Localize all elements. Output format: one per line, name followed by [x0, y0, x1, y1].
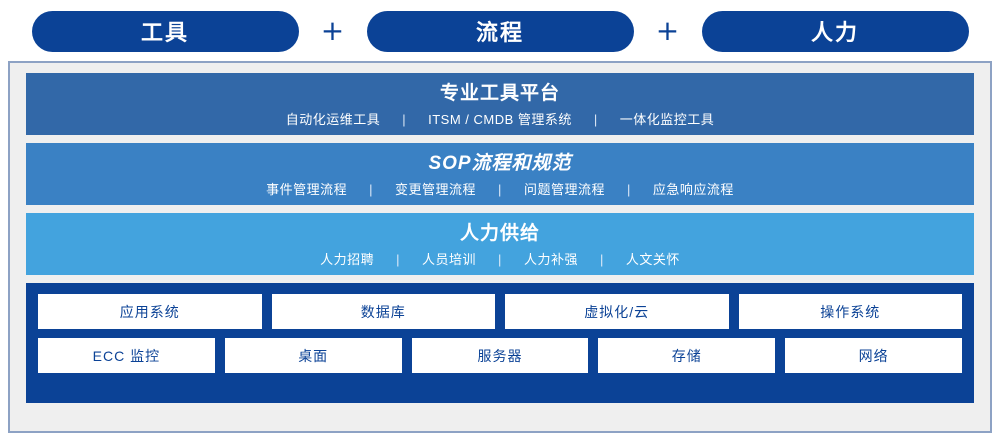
- infra-box-application-system[interactable]: 应用系统: [38, 294, 262, 329]
- band-title-people: 人力供给: [38, 219, 962, 249]
- band-separator-icon: |: [498, 249, 502, 271]
- band-item-people-2[interactable]: 人力补强: [502, 249, 600, 271]
- infra-box-ecc-monitoring[interactable]: ECC 监控: [38, 338, 215, 373]
- infra-box-virtualization-cloud[interactable]: 虚拟化/云: [505, 294, 729, 329]
- band-human-resource-supply[interactable]: 人力供给 人力招聘 | 人员培训 | 人力补强 | 人文关怀: [26, 213, 974, 275]
- band-separator-icon: |: [627, 179, 631, 201]
- band-item-tools-0[interactable]: 自动化运维工具: [264, 109, 403, 131]
- infrastructure-row-2: ECC 监控 桌面 服务器 存储 网络: [38, 338, 962, 373]
- plus-icon-1: +: [299, 17, 367, 45]
- band-items-process: 事件管理流程 | 变更管理流程 | 问题管理流程 | 应急响应流程: [38, 179, 962, 201]
- infra-box-database[interactable]: 数据库: [272, 294, 496, 329]
- band-item-people-3[interactable]: 人文关怀: [604, 249, 702, 271]
- band-item-process-0[interactable]: 事件管理流程: [244, 179, 369, 201]
- infra-box-desktop[interactable]: 桌面: [225, 338, 402, 373]
- band-item-people-1[interactable]: 人员培训: [400, 249, 498, 271]
- band-separator-icon: |: [600, 249, 604, 271]
- formula-term-process[interactable]: 流程: [367, 11, 634, 52]
- infrastructure-row-1: 应用系统 数据库 虚拟化/云 操作系统: [38, 294, 962, 329]
- band-item-process-3[interactable]: 应急响应流程: [631, 179, 756, 201]
- formula-term-process-label: 流程: [476, 15, 524, 47]
- formula-term-people-label: 人力: [811, 15, 859, 47]
- formula-term-tools-label: 工具: [141, 15, 189, 47]
- formula-row: 工具 + 流程 + 人力: [0, 0, 1000, 56]
- band-items-tools: 自动化运维工具 | ITSM / CMDB 管理系统 | 一体化监控工具: [38, 109, 962, 131]
- infra-box-storage[interactable]: 存储: [598, 338, 775, 373]
- band-title-process: SOP流程和规范: [38, 149, 962, 179]
- capability-stack-panel: 专业工具平台 自动化运维工具 | ITSM / CMDB 管理系统 | 一体化监…: [8, 61, 992, 433]
- band-item-people-0[interactable]: 人力招聘: [298, 249, 396, 271]
- infrastructure-panel: 应用系统 数据库 虚拟化/云 操作系统 ECC 监控 桌面 服务器 存储 网络: [26, 283, 974, 403]
- band-items-people: 人力招聘 | 人员培训 | 人力补强 | 人文关怀: [38, 249, 962, 271]
- band-item-process-1[interactable]: 变更管理流程: [373, 179, 498, 201]
- band-sop-process[interactable]: SOP流程和规范 事件管理流程 | 变更管理流程 | 问题管理流程 | 应急响应…: [26, 143, 974, 205]
- infra-box-network[interactable]: 网络: [785, 338, 962, 373]
- band-separator-icon: |: [402, 109, 406, 131]
- band-separator-icon: |: [594, 109, 598, 131]
- formula-term-people[interactable]: 人力: [702, 11, 969, 52]
- infra-box-operating-system[interactable]: 操作系统: [739, 294, 963, 329]
- formula-term-tools[interactable]: 工具: [32, 11, 299, 52]
- band-item-tools-1[interactable]: ITSM / CMDB 管理系统: [406, 109, 594, 131]
- band-title-tools: 专业工具平台: [38, 79, 962, 109]
- plus-icon-2: +: [634, 17, 702, 45]
- infra-box-server[interactable]: 服务器: [412, 338, 589, 373]
- band-separator-icon: |: [498, 179, 502, 201]
- band-separator-icon: |: [369, 179, 373, 201]
- band-item-tools-2[interactable]: 一体化监控工具: [598, 109, 737, 131]
- band-professional-tool-platform[interactable]: 专业工具平台 自动化运维工具 | ITSM / CMDB 管理系统 | 一体化监…: [26, 73, 974, 135]
- band-item-process-2[interactable]: 问题管理流程: [502, 179, 627, 201]
- band-separator-icon: |: [396, 249, 400, 271]
